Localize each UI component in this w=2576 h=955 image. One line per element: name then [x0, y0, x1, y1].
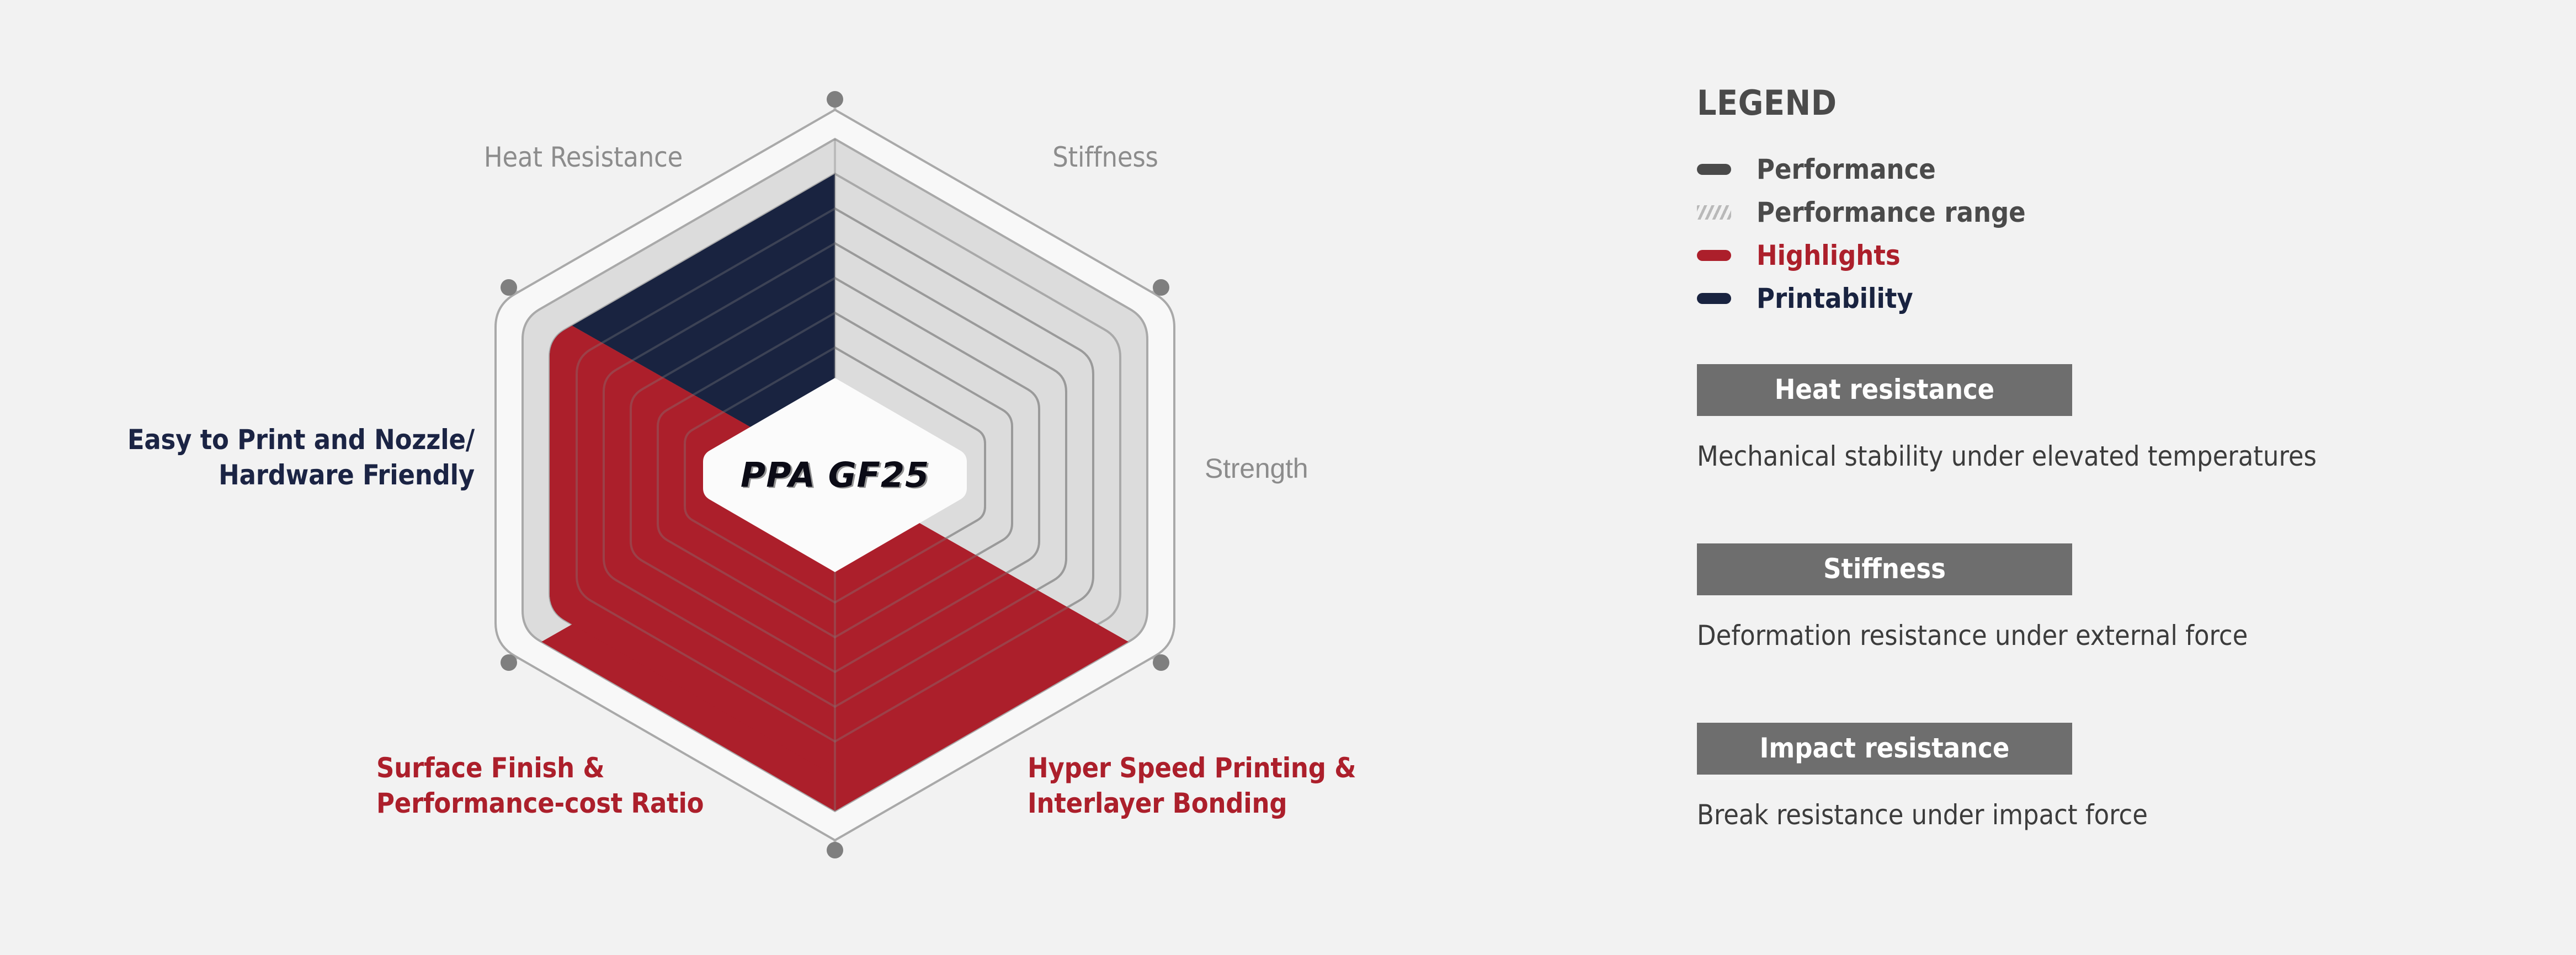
legend-label-performance: Performance	[1757, 153, 1936, 185]
legend-swatch-performance-icon	[1697, 164, 1731, 175]
description-text-impact-resistance: Break resistance under impact force	[1697, 799, 2536, 831]
legend-label-performance-range: Performance range	[1757, 196, 2026, 228]
legend-label-printability: Printability	[1757, 282, 1913, 314]
infographic-page: Heat Resistance Stiffness Strength Easy …	[0, 0, 2576, 955]
legend-swatch-highlights-icon	[1697, 250, 1731, 261]
axis-label-printability: Easy to Print and Nozzle/ Hardware Frien…	[66, 422, 475, 493]
axis-label-hyper-speed: Hyper Speed Printing & Interlayer Bondin…	[1028, 750, 1447, 821]
legend-item-highlights: Highlights	[1697, 234, 2194, 277]
axis-label-heat-resistance: Heat Resistance	[465, 140, 702, 175]
description-stiffness: Stiffness Deformation resistance under e…	[1697, 543, 2536, 652]
legend-title: LEGEND	[1697, 83, 1837, 123]
axis-label-strength: Strength	[1205, 451, 1337, 486]
legend-item-performance-range: Performance range	[1697, 191, 2194, 234]
chip-impact-resistance: Impact resistance	[1697, 723, 2072, 775]
axis-label-stiffness: Stiffness	[1042, 140, 1169, 175]
legend-swatch-printability-icon	[1697, 293, 1731, 304]
legend-items: Performance Performance range Highlights…	[1697, 148, 2194, 320]
description-heat-resistance: Heat resistance Mechanical stability und…	[1697, 364, 2536, 472]
legend-swatch-performance-range-icon	[1697, 205, 1731, 220]
legend-item-performance: Performance	[1697, 148, 2194, 191]
description-impact-resistance: Impact resistance Break resistance under…	[1697, 723, 2536, 831]
description-text-heat-resistance: Mechanical stability under elevated temp…	[1697, 440, 2536, 472]
legend-panel: LEGEND Performance Performance range Hig…	[1697, 0, 2576, 955]
legend-item-printability: Printability	[1697, 277, 2194, 320]
radar-chart: Heat Resistance Stiffness Strength Easy …	[0, 0, 1667, 955]
chip-stiffness: Stiffness	[1697, 543, 2072, 595]
description-text-stiffness: Deformation resistance under external fo…	[1697, 620, 2536, 652]
axis-label-surface-finish: Surface Finish & Performance-cost Ratio	[376, 750, 774, 821]
chip-heat-resistance: Heat resistance	[1697, 364, 2072, 416]
legend-label-highlights: Highlights	[1757, 239, 1901, 271]
chart-center-label: PPA GF25	[741, 455, 929, 495]
